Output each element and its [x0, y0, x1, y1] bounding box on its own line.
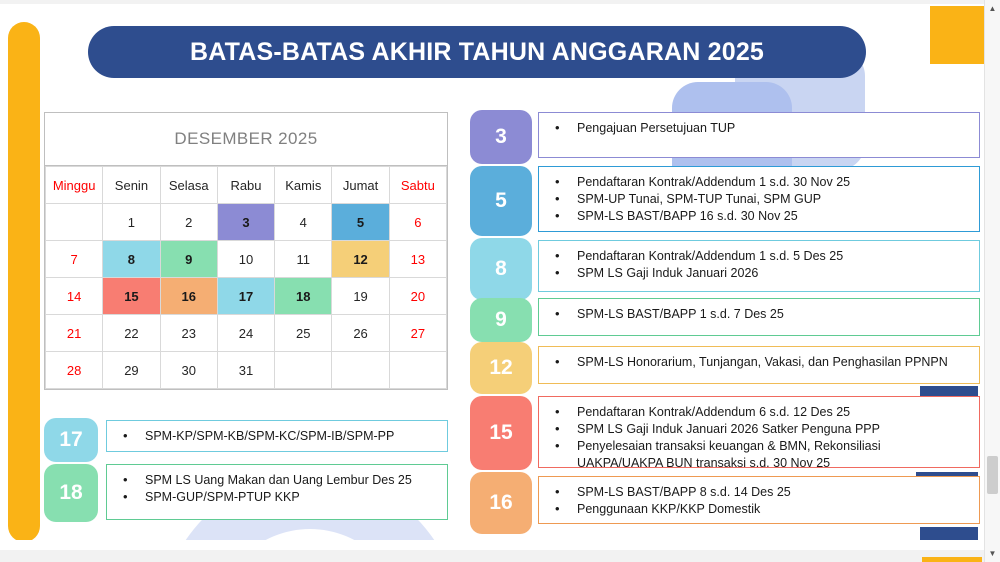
- calendar-day-16[interactable]: 16: [160, 278, 217, 315]
- slide-canvas: BATAS-BATAS AKHIR TAHUN ANGGARAN 2025 DE…: [0, 4, 986, 550]
- deadline-item: Penyelesaian transaksi keuangan & BMN, R…: [547, 438, 969, 472]
- deadline-items-3: Pengajuan Persetujuan TUP: [547, 120, 969, 137]
- scrollbar-thumb[interactable]: [987, 456, 998, 494]
- deadline-item: SPM-LS BAST/BAPP 8 s.d. 14 Des 25: [547, 484, 969, 501]
- deadline-item: SPM-LS Honorarium, Tunjangan, Vakasi, da…: [547, 354, 969, 371]
- date-badge-16[interactable]: 16: [470, 472, 532, 534]
- calendar-weekday-senin: Senin: [103, 167, 160, 204]
- date-badge-17[interactable]: 17: [44, 418, 98, 462]
- deadline-item: SPM-LS BAST/BAPP 1 s.d. 7 Des 25: [547, 306, 969, 323]
- deadline-item: Penggunaan KKP/KKP Domestik: [547, 501, 969, 518]
- deadline-row-9: 9SPM-LS BAST/BAPP 1 s.d. 7 Des 25: [470, 298, 980, 342]
- calendar-day-25[interactable]: 25: [275, 315, 332, 352]
- calendar-day-5[interactable]: 5: [332, 204, 389, 241]
- slide-title-bar: BATAS-BATAS AKHIR TAHUN ANGGARAN 2025: [88, 26, 866, 78]
- calendar-day-8[interactable]: 8: [103, 241, 160, 278]
- deadline-item: Pendaftaran Kontrak/Addendum 1 s.d. 5 De…: [547, 248, 969, 265]
- calendar-day-empty: [389, 352, 446, 389]
- calendar-day-4[interactable]: 4: [275, 204, 332, 241]
- calendar-day-9[interactable]: 9: [160, 241, 217, 278]
- calendar-weekday-rabu: Rabu: [217, 167, 274, 204]
- scroll-down-icon[interactable]: ▼: [985, 546, 1000, 561]
- deadline-item: SPM-LS BAST/BAPP 16 s.d. 30 Nov 25: [547, 208, 969, 225]
- deadline-row-8: 8Pendaftaran Kontrak/Addendum 1 s.d. 5 D…: [470, 238, 980, 300]
- calendar-day-27[interactable]: 27: [389, 315, 446, 352]
- calendar-day-2[interactable]: 2: [160, 204, 217, 241]
- calendar-week-row: 21222324252627: [46, 315, 447, 352]
- calendar-weekday-minggu: Minggu: [46, 167, 103, 204]
- calendar-day-23[interactable]: 23: [160, 315, 217, 352]
- calendar-weekday-jumat: Jumat: [332, 167, 389, 204]
- calendar-day-30[interactable]: 30: [160, 352, 217, 389]
- calendar-day-12[interactable]: 12: [332, 241, 389, 278]
- calendar-day-29[interactable]: 29: [103, 352, 160, 389]
- deadline-items-15: Pendaftaran Kontrak/Addendum 6 s.d. 12 D…: [547, 404, 969, 472]
- date-badge-12[interactable]: 12: [470, 342, 532, 394]
- deadline-box-16: SPM-LS BAST/BAPP 8 s.d. 14 Des 25Penggun…: [538, 476, 980, 524]
- deadline-row-3: 3Pengajuan Persetujuan TUP: [470, 110, 980, 164]
- deadline-box-5: Pendaftaran Kontrak/Addendum 1 s.d. 30 N…: [538, 166, 980, 232]
- scroll-up-icon[interactable]: ▲: [985, 1, 1000, 16]
- deadline-item: SPM LS Uang Makan dan Uang Lembur Des 25: [115, 472, 437, 489]
- deadline-box-8: Pendaftaran Kontrak/Addendum 1 s.d. 5 De…: [538, 240, 980, 292]
- deadline-item: Pendaftaran Kontrak/Addendum 1 s.d. 30 N…: [547, 174, 969, 191]
- bottom-yellow-accent: [922, 557, 982, 562]
- deadline-row-16: 16SPM-LS BAST/BAPP 8 s.d. 14 Des 25Pengg…: [470, 472, 980, 534]
- calendar-day-empty: [275, 352, 332, 389]
- calendar-header-row: MingguSeninSelasaRabuKamisJumatSabtu: [46, 167, 447, 204]
- calendar-day-3[interactable]: 3: [217, 204, 274, 241]
- date-badge-5[interactable]: 5: [470, 166, 532, 236]
- calendar-day-21[interactable]: 21: [46, 315, 103, 352]
- calendar-weekday-sabtu: Sabtu: [389, 167, 446, 204]
- calendar-day-26[interactable]: 26: [332, 315, 389, 352]
- deadline-box-18: SPM LS Uang Makan dan Uang Lembur Des 25…: [106, 464, 448, 520]
- calendar-day-15[interactable]: 15: [103, 278, 160, 315]
- deadline-row-17: 17SPM-KP/SPM-KB/SPM-KC/SPM-IB/SPM-PP: [44, 418, 448, 462]
- calendar-day-7[interactable]: 7: [46, 241, 103, 278]
- deadline-box-15: Pendaftaran Kontrak/Addendum 6 s.d. 12 D…: [538, 396, 980, 468]
- yellow-square-decoration: [930, 6, 986, 64]
- calendar-weekday-selasa: Selasa: [160, 167, 217, 204]
- deadline-items-16: SPM-LS BAST/BAPP 8 s.d. 14 Des 25Penggun…: [547, 484, 969, 518]
- calendar-day-1[interactable]: 1: [103, 204, 160, 241]
- date-badge-18[interactable]: 18: [44, 464, 98, 522]
- deadline-row-5: 5Pendaftaran Kontrak/Addendum 1 s.d. 30 …: [470, 166, 980, 236]
- calendar-weekday-kamis: Kamis: [275, 167, 332, 204]
- deadline-items-12: SPM-LS Honorarium, Tunjangan, Vakasi, da…: [547, 354, 969, 371]
- deadline-item: SPM-GUP/SPM-PTUP KKP: [115, 489, 437, 506]
- deadline-item: Pengajuan Persetujuan TUP: [547, 120, 969, 137]
- calendar-head: MingguSeninSelasaRabuKamisJumatSabtu: [46, 167, 447, 204]
- vertical-scrollbar[interactable]: ▲ ▼: [984, 0, 1000, 562]
- calendar-widget: DESEMBER 2025 MingguSeninSelasaRabuKamis…: [44, 112, 448, 390]
- calendar-day-17[interactable]: 17: [217, 278, 274, 315]
- date-badge-15[interactable]: 15: [470, 396, 532, 470]
- calendar-table: MingguSeninSelasaRabuKamisJumatSabtu 123…: [45, 166, 447, 389]
- deadline-items-18: SPM LS Uang Makan dan Uang Lembur Des 25…: [115, 472, 437, 506]
- deadline-row-18: 18SPM LS Uang Makan dan Uang Lembur Des …: [44, 464, 448, 522]
- bottom-strip: [0, 540, 985, 550]
- deadline-items-9: SPM-LS BAST/BAPP 1 s.d. 7 Des 25: [547, 306, 969, 323]
- date-badge-8[interactable]: 8: [470, 238, 532, 300]
- calendar-day-13[interactable]: 13: [389, 241, 446, 278]
- calendar-day-24[interactable]: 24: [217, 315, 274, 352]
- date-badge-3[interactable]: 3: [470, 110, 532, 164]
- calendar-day-18[interactable]: 18: [275, 278, 332, 315]
- page-title: BATAS-BATAS AKHIR TAHUN ANGGARAN 2025: [190, 38, 764, 67]
- deadline-items-8: Pendaftaran Kontrak/Addendum 1 s.d. 5 De…: [547, 248, 969, 282]
- calendar-week-row: 123456: [46, 204, 447, 241]
- calendar-day-22[interactable]: 22: [103, 315, 160, 352]
- calendar-day-31[interactable]: 31: [217, 352, 274, 389]
- calendar-day-empty: [332, 352, 389, 389]
- calendar-day-28[interactable]: 28: [46, 352, 103, 389]
- deadline-items-5: Pendaftaran Kontrak/Addendum 1 s.d. 30 N…: [547, 174, 969, 225]
- calendar-day-14[interactable]: 14: [46, 278, 103, 315]
- deadline-box-3: Pengajuan Persetujuan TUP: [538, 112, 980, 158]
- deadline-items-17: SPM-KP/SPM-KB/SPM-KC/SPM-IB/SPM-PP: [115, 428, 437, 445]
- date-badge-9[interactable]: 9: [470, 298, 532, 342]
- deadline-row-15: 15Pendaftaran Kontrak/Addendum 6 s.d. 12…: [470, 396, 980, 470]
- calendar-week-row: 28293031: [46, 352, 447, 389]
- calendar-body: 1234567891011121314151617181920212223242…: [46, 204, 447, 389]
- deadline-box-9: SPM-LS BAST/BAPP 1 s.d. 7 Des 25: [538, 298, 980, 336]
- deadline-item: SPM LS Gaji Induk Januari 2026 Satker Pe…: [547, 421, 969, 438]
- deadline-item: Pendaftaran Kontrak/Addendum 6 s.d. 12 D…: [547, 404, 969, 421]
- deadline-item: SPM LS Gaji Induk Januari 2026: [547, 265, 969, 282]
- deadline-box-17: SPM-KP/SPM-KB/SPM-KC/SPM-IB/SPM-PP: [106, 420, 448, 452]
- calendar-week-row: 78910111213: [46, 241, 447, 278]
- deadline-item: SPM-KP/SPM-KB/SPM-KC/SPM-IB/SPM-PP: [115, 428, 437, 445]
- calendar-day-19[interactable]: 19: [332, 278, 389, 315]
- calendar-day-10[interactable]: 10: [217, 241, 274, 278]
- calendar-day-11[interactable]: 11: [275, 241, 332, 278]
- calendar-day-20[interactable]: 20: [389, 278, 446, 315]
- deadline-box-12: SPM-LS Honorarium, Tunjangan, Vakasi, da…: [538, 346, 980, 384]
- screenshot-stage: BATAS-BATAS AKHIR TAHUN ANGGARAN 2025 DE…: [0, 0, 1000, 562]
- yellow-bar-decoration: [8, 22, 40, 542]
- calendar-week-row: 14151617181920: [46, 278, 447, 315]
- deadline-row-12: 12SPM-LS Honorarium, Tunjangan, Vakasi, …: [470, 342, 980, 394]
- calendar-day-empty: [46, 204, 103, 241]
- calendar-month-title: DESEMBER 2025: [45, 113, 447, 166]
- deadline-item: SPM-UP Tunai, SPM-TUP Tunai, SPM GUP: [547, 191, 969, 208]
- calendar-day-6[interactable]: 6: [389, 204, 446, 241]
